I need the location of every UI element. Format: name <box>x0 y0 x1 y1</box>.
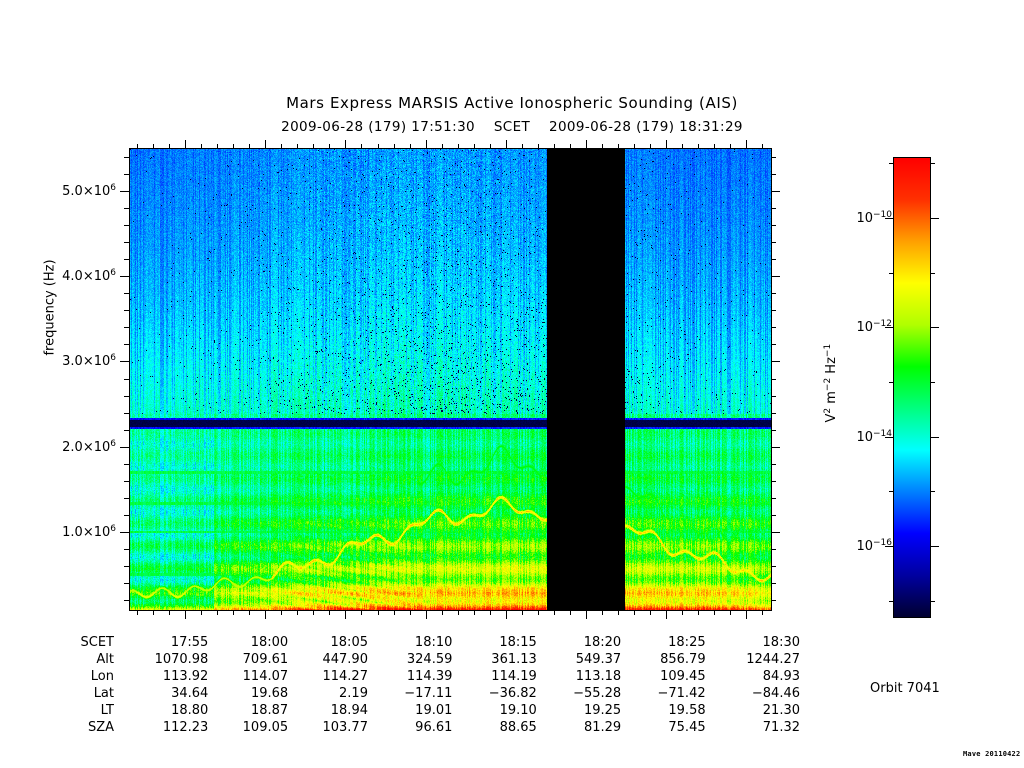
x-tick-minor <box>554 144 555 149</box>
x-tick-minor <box>538 610 539 615</box>
y-tick-major <box>771 532 780 533</box>
table-cell: −17.11 <box>368 685 452 702</box>
y-tick-minor <box>771 310 776 311</box>
x-tick-minor <box>249 144 250 149</box>
table-cell: 709.61 <box>208 651 288 668</box>
y-tick-label-exponent: 6 <box>110 524 116 534</box>
y-tick-minor <box>771 327 776 328</box>
ephemeris-table-grid: SCET17:5518:0018:0518:1018:1518:2018:251… <box>40 634 800 736</box>
colorbar-tick-minor <box>930 273 935 274</box>
x-tick-minor <box>474 610 475 615</box>
x-tick-minor <box>378 144 379 149</box>
x-tick-minor <box>618 144 619 149</box>
x-tick-major <box>666 140 667 149</box>
colorbar-tick-label: 10−10 <box>856 210 892 226</box>
table-row: SZA112.23109.05103.7796.6188.6581.2975.4… <box>40 719 800 736</box>
y-tick-minor <box>124 208 129 209</box>
table-cell: 1244.27 <box>706 651 800 668</box>
page-subtitle: 2009-06-28 (179) 17:51:30 SCET 2009-06-2… <box>0 119 1024 135</box>
x-tick-minor <box>442 610 443 615</box>
table-cell: −36.82 <box>452 685 536 702</box>
y-tick-major <box>120 447 129 448</box>
x-tick-minor <box>169 144 170 149</box>
y-tick-major <box>120 532 129 533</box>
colorbar-label: V2 m−2 Hz−1 <box>823 303 839 463</box>
table-cell: 84.93 <box>706 668 800 685</box>
y-tick-label: 4.0×106 <box>62 268 116 284</box>
x-tick-minor <box>554 610 555 615</box>
table-cell: 19.58 <box>621 702 705 719</box>
y-tick-minor <box>124 413 129 414</box>
x-tick-minor <box>249 610 250 615</box>
y-tick-major <box>771 191 780 192</box>
spectrogram-image <box>130 149 771 610</box>
y-tick-label: 3.0×106 <box>62 353 116 369</box>
colorbar-tick-minor <box>889 382 894 383</box>
x-tick-minor <box>217 610 218 615</box>
x-tick-minor <box>602 144 603 149</box>
x-tick-minor <box>297 610 298 615</box>
x-tick-minor <box>570 144 571 149</box>
table-cell: 71.32 <box>706 719 800 736</box>
table-cell: 18:05 <box>288 634 368 651</box>
colorbar-tick-major <box>930 437 939 438</box>
x-tick-minor <box>618 610 619 615</box>
y-tick-minor <box>124 225 129 226</box>
colorbar-tick-minor <box>889 491 894 492</box>
table-cell: 75.45 <box>621 719 705 736</box>
y-tick-minor <box>771 344 776 345</box>
colorbar-tick-major <box>930 327 939 328</box>
y-axis-right <box>771 148 781 611</box>
y-tick-minor <box>771 174 776 175</box>
table-cell: 19.10 <box>452 702 536 719</box>
colorbar-tick-major <box>930 218 939 219</box>
x-tick-major <box>265 610 266 619</box>
y-tick-minor <box>124 327 129 328</box>
y-tick-label-exponent: 6 <box>110 268 116 278</box>
x-tick-minor <box>634 610 635 615</box>
x-tick-minor <box>698 610 699 615</box>
colorbar-tick-minor <box>889 273 894 274</box>
y-tick-label-exponent: 6 <box>110 183 116 193</box>
table-cell: 18.94 <box>288 702 368 719</box>
y-tick-minor <box>771 379 776 380</box>
table-cell: 113.92 <box>114 668 208 685</box>
x-tick-major <box>185 610 186 619</box>
table-cell: 21.30 <box>706 702 800 719</box>
y-tick-label-mantissa: 2.0×10 <box>62 440 110 455</box>
x-tick-minor <box>522 610 523 615</box>
x-tick-major <box>506 610 507 619</box>
x-tick-minor <box>297 144 298 149</box>
x-tick-minor <box>682 610 683 615</box>
x-tick-minor <box>410 144 411 149</box>
y-tick-minor <box>124 396 129 397</box>
y-tick-minor <box>771 600 776 601</box>
x-tick-minor <box>458 610 459 615</box>
x-tick-minor <box>714 610 715 615</box>
table-cell: 1070.98 <box>114 651 208 668</box>
y-tick-minor <box>771 549 776 550</box>
y-tick-minor <box>771 259 776 260</box>
y-tick-minor <box>771 225 776 226</box>
table-cell: 18.80 <box>114 702 208 719</box>
x-tick-minor <box>201 610 202 615</box>
y-tick-major <box>120 361 129 362</box>
colorbar-label-hz: Hz <box>824 357 839 378</box>
table-row-label: Lat <box>40 685 114 702</box>
y-tick-minor <box>771 481 776 482</box>
x-axis-bottom <box>129 610 772 620</box>
y-tick-label: 5.0×106 <box>62 183 116 199</box>
x-tick-minor <box>361 610 362 615</box>
colorbar-tick-label: 10−12 <box>856 319 892 335</box>
x-tick-minor <box>137 610 138 615</box>
x-tick-minor <box>410 610 411 615</box>
orbit-label: Orbit 7041 <box>870 681 940 696</box>
table-cell: 103.77 <box>288 719 368 736</box>
y-tick-major <box>771 361 780 362</box>
y-tick-label-mantissa: 5.0×10 <box>62 184 110 199</box>
table-cell: −84.46 <box>706 685 800 702</box>
x-tick-minor <box>361 144 362 149</box>
x-tick-minor <box>442 144 443 149</box>
y-tick-minor <box>124 515 129 516</box>
y-tick-label-mantissa: 1.0×10 <box>62 525 110 540</box>
colorbar-tick-exponent: −10 <box>873 210 892 220</box>
x-tick-major <box>746 140 747 149</box>
table-cell: 19.01 <box>368 702 452 719</box>
table-row: Alt1070.98709.61447.90324.59361.13549.37… <box>40 651 800 668</box>
x-tick-major <box>746 610 747 619</box>
table-cell: 109.05 <box>208 719 288 736</box>
table-cell: −71.42 <box>621 685 705 702</box>
x-tick-minor <box>570 610 571 615</box>
table-row: SCET17:5518:0018:0518:1018:1518:2018:251… <box>40 634 800 651</box>
x-tick-minor <box>762 610 763 615</box>
page-title: Mars Express MARSIS Active Ionospheric S… <box>0 94 1024 112</box>
colorbar-tick-minor <box>930 601 935 602</box>
x-tick-minor <box>650 144 651 149</box>
y-tick-major <box>120 191 129 192</box>
x-tick-minor <box>233 144 234 149</box>
y-tick-minor <box>771 464 776 465</box>
x-tick-minor <box>394 610 395 615</box>
y-tick-minor <box>124 174 129 175</box>
colorbar-label-sup1: 2 <box>823 408 833 414</box>
colorbar-tick-major <box>930 546 939 547</box>
x-tick-major <box>586 610 587 619</box>
colorbar-tick-mantissa: 10 <box>856 321 873 336</box>
colorbar-label-m: m <box>824 391 839 408</box>
x-tick-minor <box>650 610 651 615</box>
x-tick-minor <box>490 144 491 149</box>
table-cell: 18:30 <box>706 634 800 651</box>
y-tick-minor <box>124 259 129 260</box>
x-tick-minor <box>714 144 715 149</box>
spectrogram-canvas <box>130 149 771 610</box>
x-tick-minor <box>153 610 154 615</box>
x-tick-minor <box>281 610 282 615</box>
table-cell: 114.19 <box>452 668 536 685</box>
x-tick-major <box>426 610 427 619</box>
x-tick-major <box>426 140 427 149</box>
table-row: Lon113.92114.07114.27114.39114.19113.181… <box>40 668 800 685</box>
y-tick-minor <box>771 583 776 584</box>
x-tick-minor <box>698 144 699 149</box>
y-tick-minor <box>124 242 129 243</box>
x-tick-minor <box>522 144 523 149</box>
x-tick-minor <box>137 144 138 149</box>
table-cell: 19.68 <box>208 685 288 702</box>
table-cell: 114.39 <box>368 668 452 685</box>
y-tick-major <box>771 447 780 448</box>
table-cell: 18:20 <box>537 634 621 651</box>
table-row-label: SZA <box>40 719 114 736</box>
colorbar-tick-minor <box>930 491 935 492</box>
x-tick-major <box>506 140 507 149</box>
y-tick-label: 2.0×106 <box>62 439 116 455</box>
colorbar-tick-label: 10−16 <box>856 538 892 554</box>
x-tick-minor <box>730 144 731 149</box>
colorbar-label-sup3: −1 <box>823 344 833 357</box>
table-cell: 114.27 <box>288 668 368 685</box>
y-tick-minor <box>771 396 776 397</box>
table-row-label: Lon <box>40 668 114 685</box>
colorbar-label-v: V <box>824 414 839 423</box>
x-axis-top <box>129 139 772 149</box>
table-cell: 19.25 <box>537 702 621 719</box>
x-tick-major <box>345 140 346 149</box>
x-tick-major <box>185 140 186 149</box>
x-tick-major <box>345 610 346 619</box>
y-tick-minor <box>771 242 776 243</box>
x-tick-minor <box>490 610 491 615</box>
ephemeris-table: SCET17:5518:0018:0518:1018:1518:2018:251… <box>40 634 800 736</box>
x-tick-minor <box>394 144 395 149</box>
x-tick-minor <box>217 144 218 149</box>
y-tick-minor <box>124 566 129 567</box>
x-tick-minor <box>313 610 314 615</box>
y-tick-minor <box>771 430 776 431</box>
colorbar-tick-minor <box>930 382 935 383</box>
y-axis-label: frequency (Hz) <box>43 228 58 388</box>
y-tick-minor <box>771 413 776 414</box>
x-tick-minor <box>474 144 475 149</box>
x-tick-minor <box>153 144 154 149</box>
colorbar-tick-mantissa: 10 <box>856 539 873 554</box>
table-cell: 109.45 <box>621 668 705 685</box>
x-tick-minor <box>378 610 379 615</box>
y-tick-minor <box>124 464 129 465</box>
colorbar-tick-mantissa: 10 <box>856 430 873 445</box>
y-tick-minor <box>771 498 776 499</box>
table-cell: 18:15 <box>452 634 536 651</box>
colorbar-tick-exponent: −14 <box>873 429 892 439</box>
table-cell: 18:00 <box>208 634 288 651</box>
x-tick-minor <box>602 610 603 615</box>
y-tick-minor <box>124 157 129 158</box>
x-tick-minor <box>201 144 202 149</box>
y-tick-major <box>120 276 129 277</box>
table-row-label: Alt <box>40 651 114 668</box>
table-cell: 18:10 <box>368 634 452 651</box>
table-cell: 447.90 <box>288 651 368 668</box>
colorbar-ticks: 10−1610−1410−1210−10 <box>894 158 940 617</box>
y-tick-minor <box>124 379 129 380</box>
table-row: LT18.8018.8718.9419.0119.1019.2519.5821.… <box>40 702 800 719</box>
y-tick-label-exponent: 6 <box>110 439 116 449</box>
table-cell: 18:25 <box>621 634 705 651</box>
x-tick-major <box>586 140 587 149</box>
x-tick-minor <box>281 144 282 149</box>
y-tick-minor <box>124 430 129 431</box>
colorbar-tick-mantissa: 10 <box>856 211 873 226</box>
x-tick-minor <box>233 610 234 615</box>
x-tick-minor <box>538 144 539 149</box>
y-tick-minor <box>771 566 776 567</box>
y-tick-minor <box>771 208 776 209</box>
table-cell: 324.59 <box>368 651 452 668</box>
watermark-label: Mave 20110422 <box>963 750 1020 758</box>
x-tick-minor <box>634 144 635 149</box>
table-cell: 112.23 <box>114 719 208 736</box>
x-tick-minor <box>329 610 330 615</box>
table-cell: 361.13 <box>452 651 536 668</box>
y-tick-minor <box>124 310 129 311</box>
x-tick-major <box>265 140 266 149</box>
colorbar-tick-exponent: −12 <box>873 319 892 329</box>
table-cell: 81.29 <box>537 719 621 736</box>
table-cell: 18.87 <box>208 702 288 719</box>
y-axis-left: 1.0×1062.0×1063.0×1064.0×1065.0×106 <box>119 148 129 611</box>
table-cell: 34.64 <box>114 685 208 702</box>
table-cell: −55.28 <box>537 685 621 702</box>
table-cell: 2.19 <box>288 685 368 702</box>
y-tick-minor <box>124 583 129 584</box>
y-tick-label-exponent: 6 <box>110 353 116 363</box>
colorbar-tick-label: 10−14 <box>856 429 892 445</box>
table-cell: 88.65 <box>452 719 536 736</box>
table-cell: 17:55 <box>114 634 208 651</box>
table-row: Lat34.6419.682.19−17.11−36.82−55.28−71.4… <box>40 685 800 702</box>
y-tick-label-mantissa: 4.0×10 <box>62 269 110 284</box>
table-cell: 856.79 <box>621 651 705 668</box>
y-tick-minor <box>124 481 129 482</box>
colorbar-tick-minor <box>930 163 935 164</box>
x-tick-minor <box>329 144 330 149</box>
y-tick-minor <box>124 549 129 550</box>
x-tick-minor <box>762 144 763 149</box>
spectrogram-plot[interactable] <box>129 148 772 611</box>
y-tick-minor <box>124 293 129 294</box>
colorbar-label-sup2: −2 <box>823 378 833 391</box>
y-tick-label-mantissa: 3.0×10 <box>62 355 110 370</box>
table-cell: 96.61 <box>368 719 452 736</box>
x-tick-minor <box>458 144 459 149</box>
x-tick-minor <box>313 144 314 149</box>
table-row-label: LT <box>40 702 114 719</box>
table-cell: 113.18 <box>537 668 621 685</box>
y-tick-label: 1.0×106 <box>62 524 116 540</box>
table-row-label: SCET <box>40 634 114 651</box>
colorbar-tick-minor <box>889 601 894 602</box>
y-tick-major <box>771 276 780 277</box>
y-tick-minor <box>771 515 776 516</box>
y-tick-minor <box>124 344 129 345</box>
y-tick-minor <box>771 293 776 294</box>
x-tick-minor <box>169 610 170 615</box>
x-tick-minor <box>682 144 683 149</box>
table-cell: 114.07 <box>208 668 288 685</box>
x-tick-minor <box>730 610 731 615</box>
y-tick-minor <box>771 157 776 158</box>
table-cell: 549.37 <box>537 651 621 668</box>
x-tick-major <box>666 610 667 619</box>
y-tick-minor <box>124 498 129 499</box>
colorbar-tick-minor <box>889 163 894 164</box>
y-tick-minor <box>124 600 129 601</box>
colorbar-tick-exponent: −16 <box>873 538 892 548</box>
